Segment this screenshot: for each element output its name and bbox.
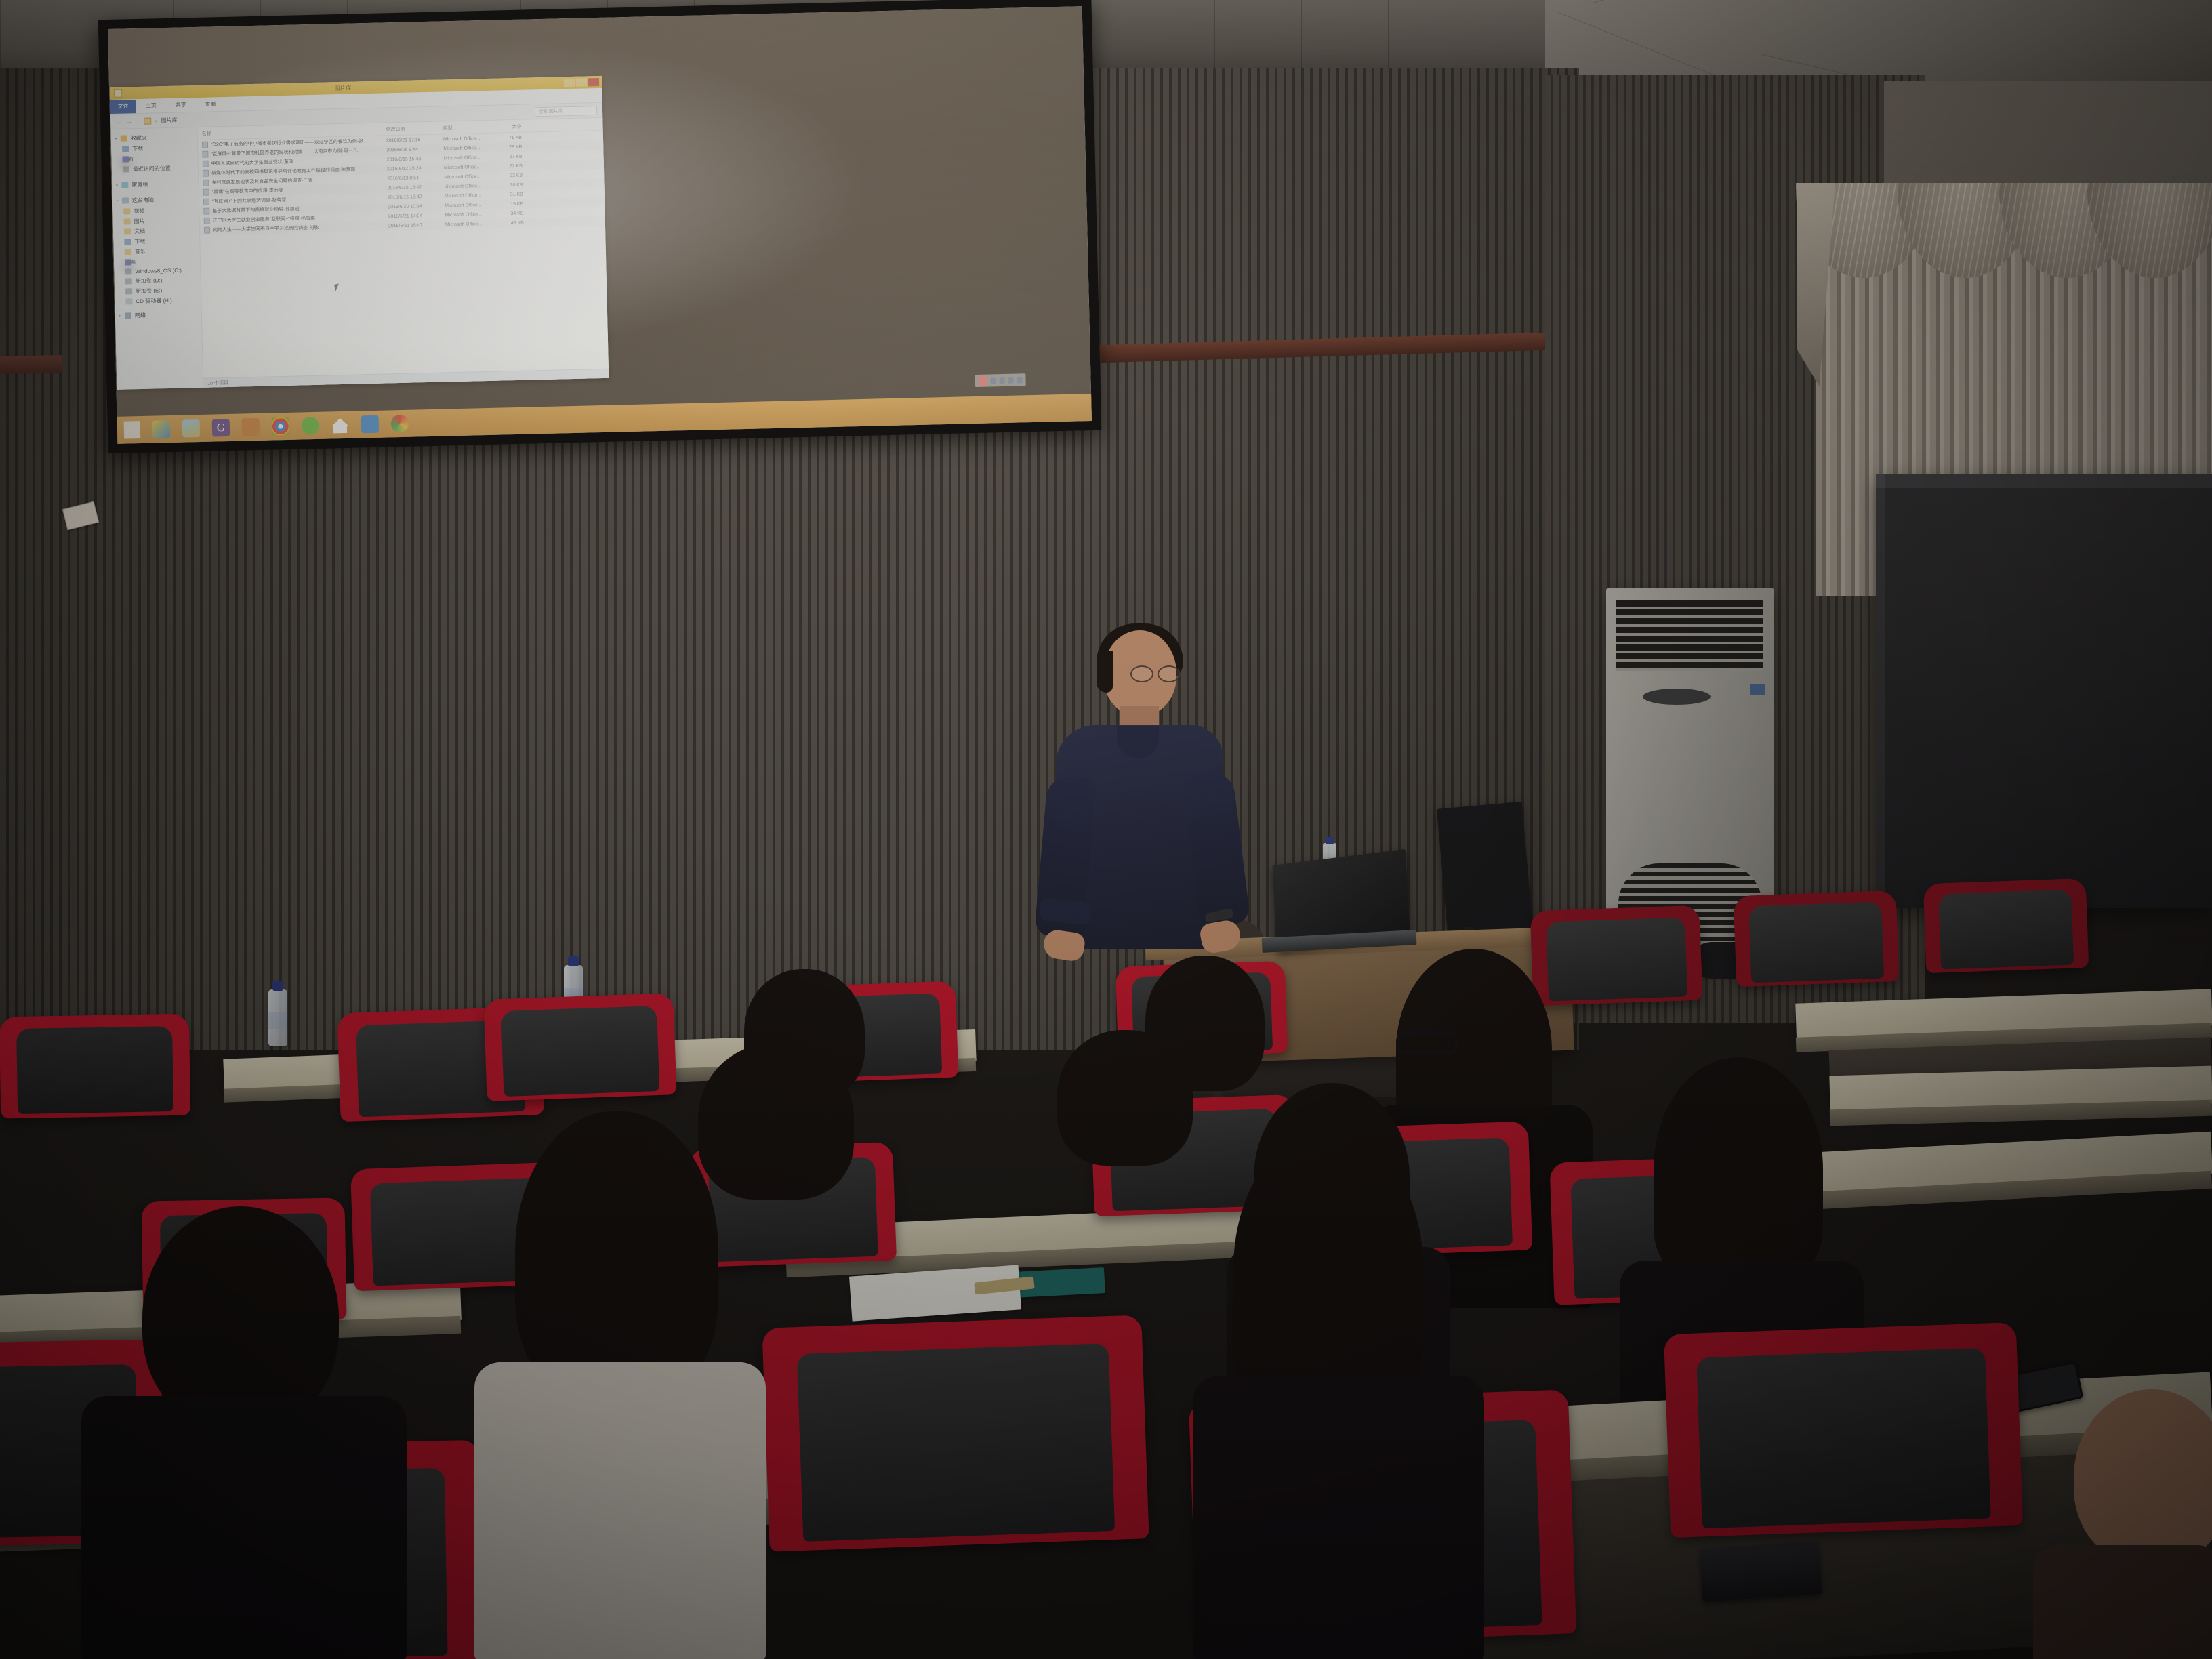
sidebar-group-label: 这台电脑 — [132, 196, 154, 204]
tab-file[interactable]: 文件 — [110, 100, 136, 114]
sidebar-item-label: 图片 — [134, 218, 145, 225]
forward-icon[interactable]: → — [126, 118, 132, 125]
student-hair — [1057, 1030, 1193, 1166]
projection-screen: 图片库 文件 主页 共享 查看 ← → — [98, 0, 1102, 453]
chair[interactable] — [1923, 878, 2089, 973]
folder-icon — [125, 249, 131, 255]
chair[interactable] — [483, 993, 676, 1101]
network-icon[interactable] — [1008, 377, 1013, 383]
file-type: Microsoft Office... — [444, 155, 495, 161]
student-body — [1193, 1376, 1484, 1659]
sidebar-group-network[interactable]: ▸ 网络 — [119, 310, 201, 320]
desktop-icon — [125, 259, 131, 265]
chrome-icon[interactable] — [272, 417, 290, 436]
cabinet-top — [1876, 474, 2212, 488]
breadcrumb[interactable]: 图片库 — [161, 117, 178, 125]
file-name: 网络人生——大学生网络自主学习现状的调查·刘敏 — [204, 222, 388, 233]
notification-tray[interactable] — [975, 373, 1025, 387]
word-document-icon — [203, 180, 209, 186]
file-size: 34 KB — [496, 211, 523, 216]
file-size: 23 KB — [495, 173, 523, 178]
column-header-size[interactable]: 大小 — [494, 123, 521, 131]
sidebar-group-label: 网络 — [135, 312, 146, 319]
window-controls[interactable] — [564, 78, 599, 87]
screen-surface: 图片库 文件 主页 共享 查看 ← → — [108, 6, 1092, 444]
cabinet-edge — [1876, 474, 1885, 908]
skype-icon[interactable]: G — [212, 419, 230, 437]
recent-icon — [123, 166, 129, 172]
chevron-right-icon: ▸ — [116, 183, 118, 188]
maximize-button[interactable] — [576, 78, 587, 86]
star-icon — [121, 135, 127, 141]
word-document-icon — [202, 151, 208, 158]
sidebar-item-videos[interactable]: 视频 — [123, 206, 199, 216]
file-size: 46 KB — [497, 220, 524, 226]
file-date: 2016/6/21 17:16 — [386, 137, 443, 143]
sidebar-item-label: 新加卷 (D:) — [136, 276, 163, 285]
confidence-monitor — [1437, 802, 1533, 936]
glasses-icon — [1130, 665, 1181, 680]
sidebar-item-pictures[interactable]: 图片 — [124, 216, 199, 226]
sidebar-item-music[interactable]: 音乐 — [125, 247, 200, 256]
sidebar-item-label: CD 驱动器 (H:) — [136, 297, 172, 305]
explorer-body: ▸ 收藏夹 下载 桌面 — [110, 118, 609, 390]
word-document-icon — [203, 161, 209, 167]
file-size: 71 KB — [495, 135, 522, 140]
folder-icon — [123, 208, 130, 214]
chair[interactable] — [762, 1315, 1149, 1551]
drive-icon — [125, 268, 131, 274]
notification-badge[interactable] — [978, 375, 987, 386]
tab-share[interactable]: 共享 — [166, 101, 196, 109]
word-document-icon — [204, 227, 210, 234]
chair[interactable] — [1734, 890, 1900, 987]
folder-icon — [124, 228, 131, 234]
navigation-pane[interactable]: ▸ 收藏夹 下载 桌面 — [110, 127, 203, 390]
word-document-icon — [204, 218, 210, 224]
sidebar-group-computer[interactable]: ▸ 这台电脑 — [117, 195, 199, 205]
file-type: Microsoft Office... — [445, 192, 496, 199]
column-header-name[interactable]: 名称 — [202, 126, 386, 137]
computer-icon — [122, 197, 129, 203]
photos-icon[interactable] — [152, 420, 171, 438]
tab-home[interactable]: 主页 — [136, 102, 166, 110]
file-size: 51 KB — [496, 192, 523, 197]
cd-drive-icon — [125, 298, 132, 304]
chair[interactable] — [1530, 905, 1703, 1006]
folder-icon — [124, 218, 131, 224]
download-icon — [122, 146, 129, 152]
curtain-valance — [1796, 183, 2212, 285]
file-list-pane[interactable]: 名称 修改日期 类型 大小 "O2O"电子商务的中小城市餐饮行业需求调研——以江… — [197, 118, 609, 388]
file-type: Microsoft Office... — [445, 221, 497, 227]
file-size: 72 KB — [495, 163, 523, 169]
sidebar-drive-c[interactable]: Windows8_OS (C:) — [125, 267, 200, 275]
file-explorer-window[interactable]: 图片库 文件 主页 共享 查看 ← → — [110, 76, 609, 390]
file-date: 2016/6/06 9:44 — [386, 146, 443, 152]
folder-icon — [144, 117, 151, 124]
sidebar-group-favorites[interactable]: ▸ 收藏夹 — [115, 133, 197, 142]
student-body — [2033, 1545, 2212, 1659]
minimize-button[interactable] — [564, 79, 575, 87]
word-document-icon — [203, 189, 209, 196]
file-date: 2016/6/13 8:54 — [387, 175, 444, 181]
sidebar-item-downloads[interactable]: 下载 — [122, 144, 197, 153]
sidebar-item-recent[interactable]: 最近访问的位置 — [123, 164, 198, 173]
ac-top-grille-icon — [1616, 600, 1763, 671]
store-icon[interactable] — [361, 415, 380, 434]
sidebar-item-label: 视频 — [134, 207, 144, 215]
file-size: 19 KB — [496, 201, 523, 207]
student-hair — [1654, 1057, 1823, 1281]
breadcrumb-separator: › — [155, 117, 157, 124]
desktop-icon — [122, 156, 129, 162]
folder-icon[interactable] — [242, 418, 260, 436]
search-input[interactable]: 搜索 图片库 — [535, 106, 597, 117]
file-type: Microsoft Office... — [445, 211, 497, 218]
sidebar-item-label: 音乐 — [135, 248, 146, 255]
word-document-icon — [203, 208, 209, 215]
file-date: 2016/6/12 15:24 — [387, 165, 444, 171]
valance-swag — [2087, 183, 2212, 278]
network-icon — [125, 312, 131, 319]
sidebar-item-label: 下载 — [132, 145, 143, 152]
file-rows[interactable]: "O2O"电子商务的中小城市餐饮行业需求调研——以江宁区的餐饮为例-张..201… — [198, 131, 605, 235]
sidebar-group-label: 收藏夹 — [131, 134, 147, 142]
file-date: 2016/6/21 15:47 — [388, 222, 445, 228]
volume-icon[interactable] — [999, 377, 1004, 383]
presenter-left-hand — [1042, 928, 1086, 962]
sidebar-item-label: 下载 — [134, 238, 145, 245]
chevron-down-icon: ▸ — [115, 136, 117, 141]
wallet — [1699, 1541, 1822, 1602]
student-body — [474, 1362, 766, 1659]
start-icon[interactable] — [124, 421, 141, 439]
file-size: 38 KB — [495, 182, 523, 188]
download-icon — [124, 239, 131, 245]
file-type: Microsoft Office... — [444, 173, 495, 180]
gallery-icon[interactable] — [182, 419, 201, 438]
file-date: 2016/6/15 15:42 — [388, 194, 445, 200]
homegroup-icon — [121, 182, 128, 188]
presenter — [1030, 630, 1261, 989]
drive-icon — [125, 288, 132, 294]
sidebar-item-label: 最近访问的位置 — [133, 165, 171, 173]
back-icon[interactable]: ← — [116, 118, 122, 125]
file-date: 2016/6/15 15:42 — [388, 184, 445, 190]
file-type: Microsoft Office... — [444, 164, 495, 170]
presenter-hair-side — [1097, 651, 1113, 693]
battery-icon[interactable] — [1017, 377, 1022, 383]
chair[interactable] — [0, 1014, 190, 1119]
sidebar-item-label: 新加卷 (E:) — [136, 287, 162, 295]
classroom-photo: 图片库 文件 主页 共享 查看 ← → — [0, 0, 2212, 1659]
ac-brand-logo — [1750, 684, 1765, 695]
word-document-icon — [203, 170, 209, 177]
sidebar-group-label: 家庭组 — [131, 181, 148, 189]
chevron-right-icon: ▸ — [119, 314, 121, 319]
ac-display-panel — [1643, 689, 1711, 705]
wechat-icon[interactable] — [302, 417, 320, 435]
file-type: Microsoft Office... — [445, 202, 496, 208]
home-icon[interactable] — [331, 416, 350, 434]
browser-icon[interactable] — [391, 415, 409, 433]
drive-icon — [125, 278, 132, 284]
window-icon — [114, 89, 122, 98]
sidebar-drive-d[interactable]: 新加卷 (D:) — [125, 276, 201, 285]
sidebar-group-homegroup[interactable]: ▸ 家庭组 — [116, 180, 198, 189]
sidebar-item-label: 文档 — [134, 228, 145, 235]
storage-cabinet — [1876, 474, 2212, 908]
file-date: 2016/6/15 15:48 — [387, 156, 444, 162]
student-hair — [698, 1044, 854, 1200]
music-icon[interactable] — [990, 377, 996, 384]
sidebar-drive-e[interactable]: 新加卷 (E:) — [125, 286, 201, 295]
sidebar-drive-cd[interactable]: CD 驱动器 (H:) — [125, 296, 201, 306]
file-type: Microsoft Office... — [445, 183, 496, 189]
up-icon[interactable]: ↑ — [136, 117, 140, 124]
file-type: Microsoft Office... — [443, 136, 495, 142]
sidebar-item-desktop-2[interactable]: 桌面 — [125, 257, 200, 266]
chevron-down-icon: ▸ — [117, 199, 119, 203]
file-type: Microsoft Office... — [443, 145, 495, 151]
sidebar-item-label: Windows8_OS (C:) — [135, 268, 182, 275]
tab-view[interactable]: 查看 — [196, 100, 226, 108]
file-date: 2016/6/20 10:14 — [388, 203, 445, 209]
file-size: 27 KB — [495, 154, 523, 159]
word-document-icon — [202, 142, 208, 148]
student-hair — [515, 1111, 718, 1403]
chair[interactable] — [1664, 1322, 2023, 1538]
sidebar-item-documents[interactable]: 文档 — [124, 226, 199, 236]
sidebar-item-desktop[interactable]: 桌面 — [122, 154, 197, 163]
close-icon[interactable] — [588, 78, 599, 86]
sidebar-item-downloads-2[interactable]: 下载 — [124, 237, 199, 246]
glasses-icon — [1396, 1031, 1458, 1054]
student-body — [81, 1396, 407, 1659]
file-size: 76 KB — [495, 144, 522, 150]
column-header-date[interactable]: 修改日期 — [386, 125, 443, 133]
file-date: 2016/6/21 14:04 — [388, 213, 445, 219]
student-hair — [1233, 1132, 1423, 1416]
water-bottle — [268, 989, 287, 1046]
column-header-type[interactable]: 类型 — [443, 124, 494, 132]
word-document-icon — [203, 199, 209, 205]
wall-trim-band — [0, 355, 62, 374]
